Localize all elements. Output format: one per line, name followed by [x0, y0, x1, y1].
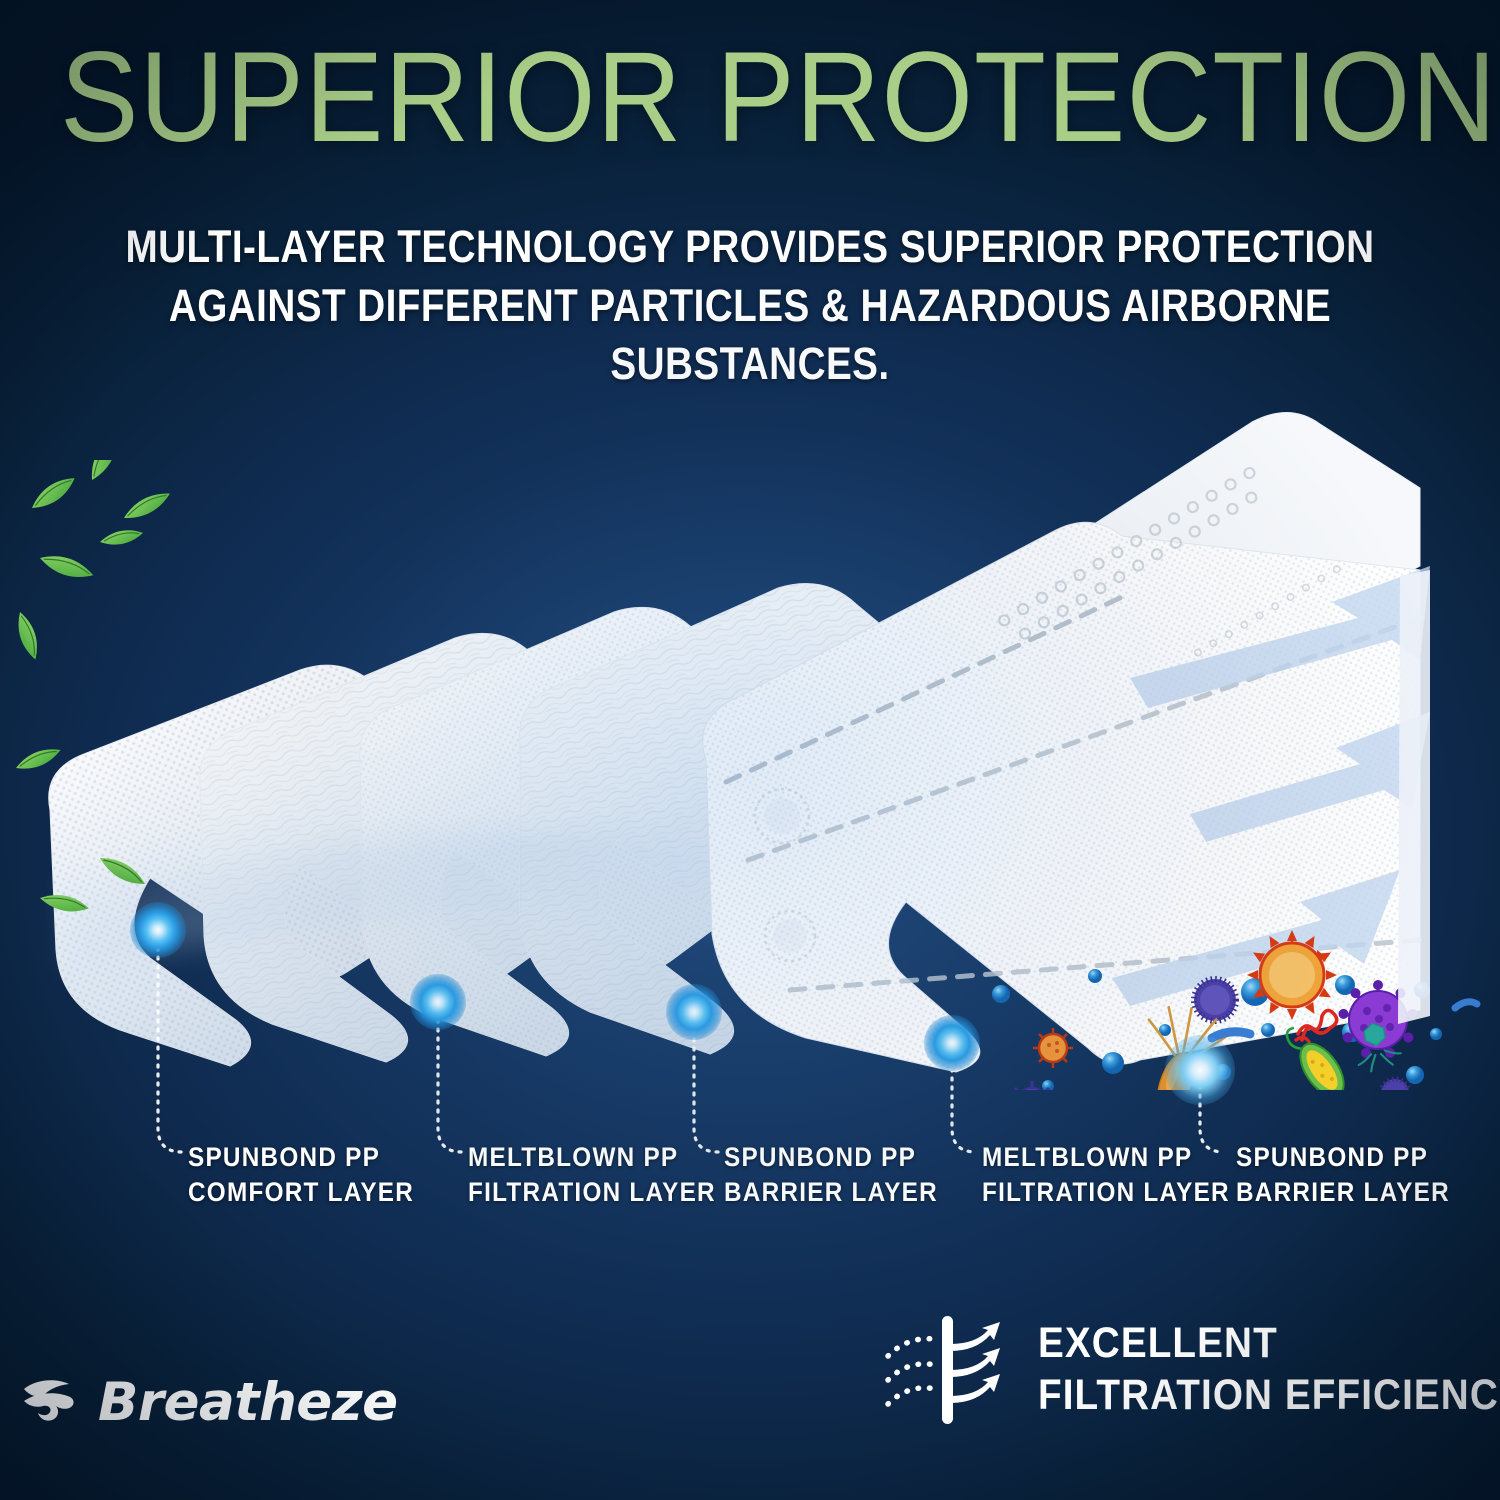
layer-label-1-line1: SPUNBOND PP: [188, 1140, 414, 1175]
brand-wordmark: Breatheze: [98, 1372, 398, 1433]
mask-layers-illustration: [0, 330, 1500, 1090]
layer-marker-1[interactable]: [130, 902, 186, 958]
brand-logo: Breatheze: [22, 1372, 398, 1433]
purple-spiky-virus-icon: [1194, 979, 1236, 1021]
floating-leaves: [0, 460, 360, 1240]
layer-label-3-line2: BARRIER LAYER: [724, 1175, 938, 1210]
subtitle-line-1: MULTI-LAYER TECHNOLOGY PROVIDES SUPERIOR…: [79, 218, 1421, 277]
mask-layer-5-front: [697, 404, 1477, 1090]
layer-label-2-line2: FILTRATION LAYER: [468, 1175, 716, 1210]
infographic-canvas: SUPERIOR PROTECTION MULTI-LAYER TECHNOLO…: [0, 0, 1500, 1500]
filtration-barrier-icon: [884, 1310, 1014, 1430]
layer-label-4: MELTBLOWN PP FILTRATION LAYER: [982, 1140, 1230, 1210]
filtration-efficiency-badge: EXCELLENT FILTRATION EFFICIENCY: [884, 1310, 1500, 1430]
orange-spiky-virus-icon: [1033, 1028, 1073, 1068]
layer-marker-2[interactable]: [410, 974, 466, 1030]
layer-marker-3[interactable]: [666, 984, 722, 1040]
layer-label-3-line1: SPUNBOND PP: [724, 1140, 938, 1175]
badge-text: EXCELLENT FILTRATION EFFICIENCY: [1038, 1318, 1500, 1421]
wing-swoosh-icon: [22, 1377, 84, 1429]
subtitle-line-2: AGAINST DIFFERENT PARTICLES & HAZARDOUS …: [79, 277, 1421, 394]
layer-label-1-line2: COMFORT LAYER: [188, 1175, 414, 1210]
layer-label-5: SPUNBOND PP BARRIER LAYER: [1236, 1140, 1450, 1210]
layer-label-3: SPUNBOND PP BARRIER LAYER: [724, 1140, 938, 1210]
layer-marker-5[interactable]: [1165, 1035, 1235, 1105]
badge-line-2: FILTRATION EFFICIENCY: [1038, 1370, 1500, 1422]
layer-label-4-line1: MELTBLOWN PP: [982, 1140, 1230, 1175]
page-title: SUPERIOR PROTECTION: [60, 34, 1440, 162]
badge-line-1: EXCELLENT: [1038, 1318, 1500, 1370]
layer-label-5-line2: BARRIER LAYER: [1236, 1175, 1450, 1210]
page-subtitle: MULTI-LAYER TECHNOLOGY PROVIDES SUPERIOR…: [79, 218, 1421, 394]
layer-label-1: SPUNBOND PP COMFORT LAYER: [188, 1140, 414, 1210]
layer-label-4-line2: FILTRATION LAYER: [982, 1175, 1230, 1210]
layer-label-5-line1: SPUNBOND PP: [1236, 1140, 1450, 1175]
layer-label-2-line1: MELTBLOWN PP: [468, 1140, 716, 1175]
layer-label-2: MELTBLOWN PP FILTRATION LAYER: [468, 1140, 716, 1210]
purple-spiky-virus-icon: [1381, 1079, 1409, 1090]
layer-marker-4[interactable]: [924, 1015, 980, 1071]
